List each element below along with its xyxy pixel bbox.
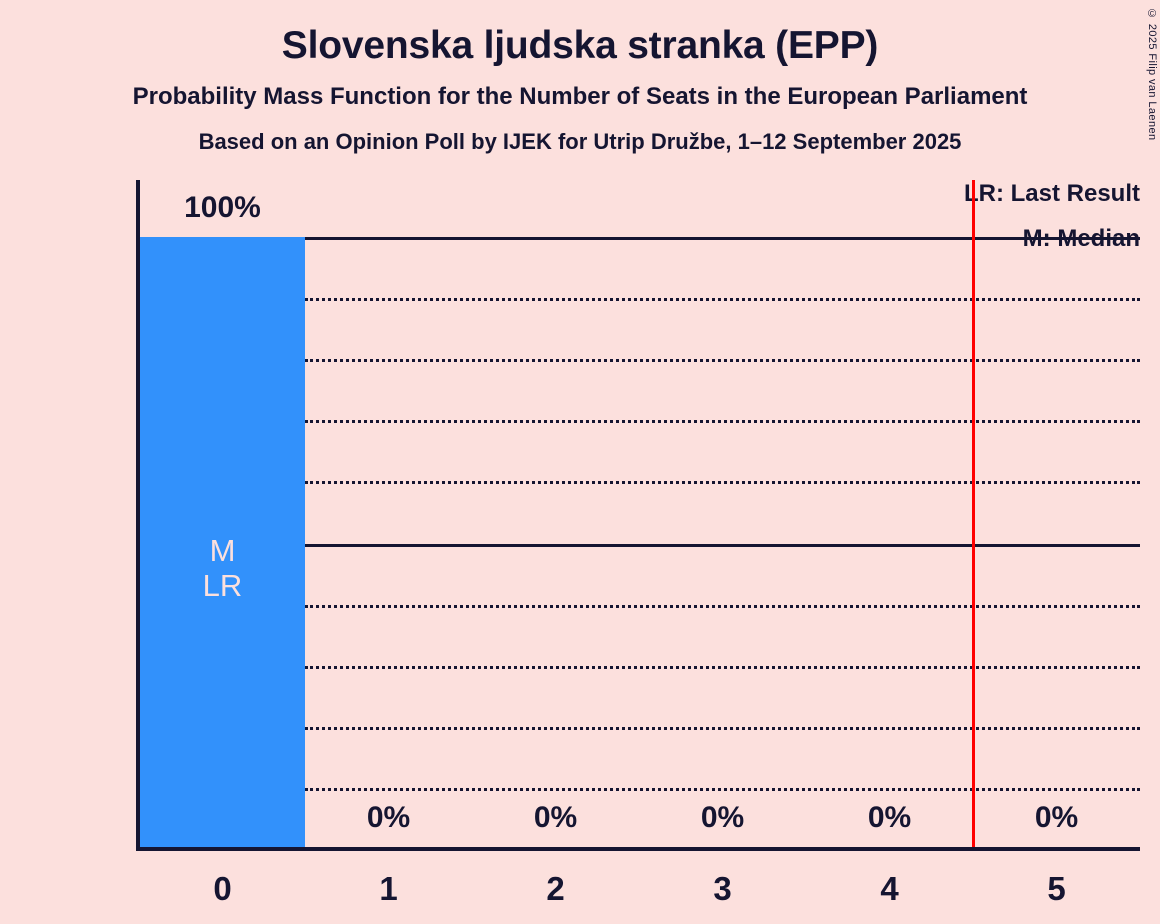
x-axis-tick-0: 0 bbox=[140, 872, 305, 905]
gridline-50 bbox=[305, 544, 1140, 547]
chart-header: Slovenska ljudska stranka (EPP) Probabil… bbox=[0, 0, 1160, 153]
x-axis-tick-4: 4 bbox=[806, 872, 973, 905]
copyright-notice: © 2025 Filip van Laenen bbox=[1146, 8, 1158, 141]
gridline-90 bbox=[305, 298, 1140, 301]
x-axis-tick-2: 2 bbox=[472, 872, 639, 905]
bar-value-label-3: 0% bbox=[639, 803, 806, 833]
gridline-40 bbox=[305, 605, 1140, 608]
chart-subtitle: Probability Mass Function for the Number… bbox=[0, 85, 1160, 109]
page-title: Slovenska ljudska stranka (EPP) bbox=[0, 26, 1160, 65]
plot-area: M LR 100% 0% 0% 0% 0% 0% bbox=[140, 180, 1140, 847]
x-axis-line bbox=[136, 847, 1140, 851]
gridline-100 bbox=[305, 237, 1140, 240]
gridline-30 bbox=[305, 666, 1140, 669]
bar-value-label-2: 0% bbox=[472, 803, 639, 833]
last-result-marker-line bbox=[972, 180, 975, 847]
x-axis-tick-1: 1 bbox=[305, 872, 472, 905]
bar-value-label-0: 100% bbox=[140, 193, 305, 223]
median-marker-label: M bbox=[140, 534, 305, 569]
bar-value-label-5: 0% bbox=[973, 803, 1140, 833]
x-axis-tick-3: 3 bbox=[639, 872, 806, 905]
gridline-10 bbox=[305, 788, 1140, 791]
x-axis-tick-5: 5 bbox=[973, 872, 1140, 905]
bar-value-label-1: 0% bbox=[305, 803, 472, 833]
bar-marker-labels: M LR bbox=[140, 534, 305, 603]
bar-seat-0[interactable]: M LR bbox=[140, 237, 305, 847]
bar-value-label-4: 0% bbox=[806, 803, 973, 833]
gridline-70 bbox=[305, 420, 1140, 423]
gridline-60 bbox=[305, 481, 1140, 484]
last-result-marker-label: LR bbox=[140, 569, 305, 604]
gridline-20 bbox=[305, 727, 1140, 730]
chart-source-note: Based on an Opinion Poll by IJEK for Utr… bbox=[0, 131, 1160, 153]
gridline-80 bbox=[305, 359, 1140, 362]
